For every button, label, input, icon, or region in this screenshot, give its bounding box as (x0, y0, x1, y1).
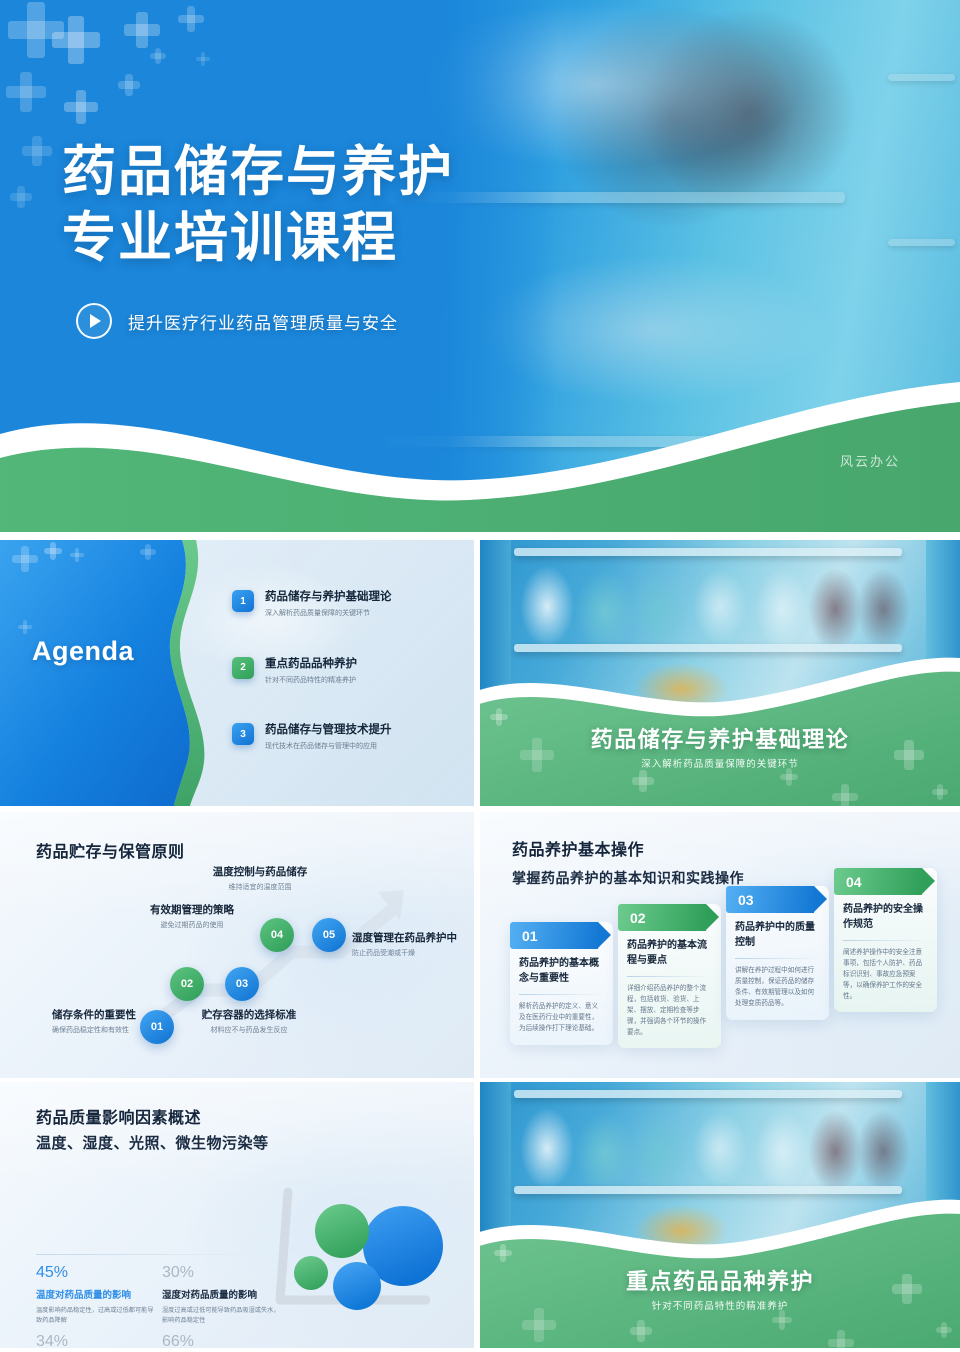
page-subtitle: 温度、湿度、光照、微生物污染等 (36, 1132, 269, 1153)
page-subtitle: 掌握药品养护的基本知识和实践操作 (512, 868, 744, 888)
fridge-shelf-mid (514, 644, 903, 652)
stat-desc: 湿度过高或过低可能导致药品吸湿或失水，影响药品稳定性 (162, 1306, 284, 1326)
step-desc: 防止药品受潮或干燥 (352, 948, 457, 958)
agenda-item-title: 重点药品品种养护 (265, 657, 357, 672)
card-body: 04 药品养护的安全操作规范 阐述养护操作中的安全注意事项，包括个人防护、药品标… (834, 868, 937, 1012)
agenda-item-desc: 现代技术在药品储存与管理中的应用 (265, 742, 392, 752)
slide-maintenance-operations[interactable]: 药品养护基本操作 掌握药品养护的基本知识和实践操作 01 药品养护的基本概念与重… (480, 812, 960, 1078)
section-title: 药品储存与养护基础理论 (480, 722, 960, 754)
slide-section-basics[interactable]: 药品储存与养护基础理论 深入解析药品质量保障的关键环节 (480, 540, 960, 806)
operation-card-1[interactable]: 01 药品养护的基本概念与重要性 解析药品养护的定义、意义及在医药行业中的重要性… (510, 922, 613, 1045)
step-title: 湿度管理在药品养护中 (352, 930, 457, 945)
agenda-item-3[interactable]: 3 药品储存与管理技术提升 现代技术在药品储存与管理中的应用 (232, 723, 457, 752)
page-title: 药品质量影响因素概述 (36, 1104, 201, 1128)
title-line-1: 药品储存与养护 (62, 142, 454, 202)
step-title: 贮存容器的选择标准 (184, 1007, 314, 1022)
card-ribbon-03: 03 (726, 886, 814, 913)
operation-card-2[interactable]: 02 药品养护的基本流程与要点 详细介绍药品养护的整个流程，包括收货、验货、上架… (618, 904, 721, 1048)
step-title: 温度控制与药品储存 (170, 864, 350, 879)
stat-card-4[interactable]: 66% 微生物污染对药品质量的影响 微生物污染可能导致药品变质，严重影响患者健康 (162, 1333, 298, 1348)
card-desc: 讲解在养护过程中如何进行质量控制，保证药品的储存条件、有效期管理以及如何处理变质… (735, 966, 820, 1010)
page-title: 药品贮存与保管原则 (36, 838, 185, 862)
card-body: 01 药品养护的基本概念与重要性 解析药品养护的定义、意义及在医药行业中的重要性… (510, 922, 613, 1045)
agenda-item-1[interactable]: 1 药品储存与养护基础理论 深入解析药品质量保障的关键环节 (232, 590, 457, 619)
title-subtitle-row: 提升医疗行业药品管理质量与安全 (76, 303, 398, 339)
stat-card-3[interactable]: 34% 光照对药品质量的影响 光照可能使药品发生光降解，降低药品的有效性 (36, 1333, 158, 1348)
step-label-03: 贮存容器的选择标准 材料应不与药品发生反应 (184, 1007, 314, 1035)
page-title: 药品储存与养护 专业培训课程 (62, 140, 454, 272)
card-body: 03 药品养护中的质量控制 讲解在养护过程中如何进行质量控制，保证药品的储存条件… (726, 886, 829, 1020)
card-ribbon-04: 04 (834, 868, 922, 895)
fridge-shelf-top (514, 548, 903, 556)
agenda-badge-3: 3 (232, 723, 254, 745)
card-divider (627, 976, 712, 977)
step-desc: 维持适宜的温度范围 (170, 882, 350, 892)
agenda-badge-2: 2 (232, 657, 254, 679)
step-label-01: 储存条件的重要性 确保药品稳定性和有效性 (52, 1007, 136, 1035)
door-rack-2 (888, 239, 955, 246)
stat-percent: 30% (162, 1264, 284, 1282)
card-desc: 阐述养护操作中的安全注意事项，包括个人防护、药品标识识别、事故应急预案等，以确保… (843, 948, 928, 1002)
step-node-01[interactable]: 01 (140, 1010, 174, 1044)
operation-card-3[interactable]: 03 药品养护中的质量控制 讲解在养护过程中如何进行质量控制，保证药品的储存条件… (726, 886, 829, 1020)
card-desc: 解析药品养护的定义、意义及在医药行业中的重要性，为后续操作打下理论基础。 (519, 1002, 604, 1035)
title-subtitle: 提升医疗行业药品管理质量与安全 (128, 309, 398, 334)
section-subtitle: 针对不同药品特性的精准养护 (480, 1298, 960, 1312)
stat-title: 湿度对药品质量的影响 (162, 1287, 284, 1301)
agenda-item-2[interactable]: 2 重点药品品种养护 针对不同药品特性的精准养护 (232, 657, 457, 686)
agenda-item-title: 药品储存与管理技术提升 (265, 723, 392, 738)
page-title: 药品养护基本操作 (512, 836, 644, 860)
step-label-05: 湿度管理在药品养护中 防止药品受潮或干燥 (352, 930, 457, 958)
slide-title[interactable]: 药品储存与养护 专业培训课程 提升医疗行业药品管理质量与安全 风云办公 (0, 0, 960, 532)
agenda-badge-1: 1 (232, 590, 254, 612)
step-title: 有效期管理的策略 (132, 902, 252, 917)
step-node-05[interactable]: 05 (312, 918, 346, 952)
slide-section-key-drugs[interactable]: 重点药品品种养护 针对不同药品特性的精准养护 (480, 1082, 960, 1348)
card-body: 02 药品养护的基本流程与要点 详细介绍药品养护的整个流程，包括收货、验货、上架… (618, 904, 721, 1048)
agenda-heading: Agenda (32, 636, 134, 667)
stats-divider (36, 1254, 266, 1255)
step-label-04: 温度控制与药品储存 维持适宜的温度范围 (170, 864, 350, 892)
bubble-humidity (294, 1256, 328, 1290)
agenda-item-title: 药品储存与养护基础理论 (265, 590, 392, 605)
title-line-2: 专业培训课程 (62, 206, 454, 272)
card-title: 药品养护的基本流程与要点 (627, 939, 712, 968)
stat-card-1[interactable]: 45% 温度对药品质量的影响 温度影响药品稳定性，过高或过低都可能导致药品降解 (36, 1264, 158, 1325)
agenda-item-desc: 针对不同药品特性的精准养护 (265, 676, 357, 686)
card-ribbon-02: 02 (618, 904, 706, 931)
slide-quality-factors[interactable]: 药品质量影响因素概述 温度、湿度、光照、微生物污染等 45% 温度对药品质量的影… (0, 1082, 474, 1348)
watermark: 风云办公 (840, 451, 900, 470)
stat-title: 温度对药品质量的影响 (36, 1287, 158, 1301)
fridge-shelf-top (514, 1090, 903, 1098)
step-title: 储存条件的重要性 (52, 1007, 136, 1022)
section-subtitle: 深入解析药品质量保障的关键环节 (480, 756, 960, 770)
stat-desc: 温度影响药品稳定性，过高或过低都可能导致药品降解 (36, 1306, 158, 1326)
step-desc: 避免过期药品的使用 (132, 920, 252, 930)
card-divider (519, 994, 604, 995)
presentation-deck: 药品储存与养护 专业培训课程 提升医疗行业药品管理质量与安全 风云办公 (0, 0, 960, 1352)
step-label-02: 有效期管理的策略 避免过期药品的使用 (132, 902, 252, 930)
card-ribbon-01: 01 (510, 922, 598, 949)
door-rack-1 (888, 74, 955, 81)
card-title: 药品养护的基本概念与重要性 (519, 957, 604, 986)
stat-percent: 66% (162, 1333, 298, 1348)
step-desc: 材料应不与药品发生反应 (184, 1025, 314, 1035)
stat-percent: 45% (36, 1264, 158, 1282)
card-title: 药品养护中的质量控制 (735, 921, 820, 950)
agenda-list: 1 药品储存与养护基础理论 深入解析药品质量保障的关键环节 2 重点药品品种养护… (232, 590, 457, 790)
card-desc: 详细介绍药品养护的整个流程，包括收货、验货、上架、摆放、定期检查等步骤，并强调各… (627, 984, 712, 1038)
card-divider (843, 940, 928, 941)
step-node-03[interactable]: 03 (225, 967, 259, 1001)
slide-storage-principles[interactable]: 药品贮存与保管原则 01 02 03 04 05 储存条件的重要性 确保药品稳定… (0, 812, 474, 1078)
step-node-02[interactable]: 02 (170, 967, 204, 1001)
card-divider (735, 958, 820, 959)
slide-agenda[interactable]: Agenda 1 药品储存与养护基础理论 深入解析药品质量保障的关键环节 2 重… (0, 540, 474, 806)
bubble-temperature (315, 1204, 369, 1258)
wave-decoration (0, 372, 960, 532)
operation-card-4[interactable]: 04 药品养护的安全操作规范 阐述养护操作中的安全注意事项，包括个人防护、药品标… (834, 868, 937, 1012)
agenda-item-desc: 深入解析药品质量保障的关键环节 (265, 609, 392, 619)
fridge-shelf-mid (514, 1186, 903, 1194)
play-icon[interactable] (76, 303, 112, 339)
step-node-04[interactable]: 04 (260, 918, 294, 952)
bubble-light (333, 1262, 381, 1310)
bubble-chart (270, 1180, 470, 1330)
step-desc: 确保药品稳定性和有效性 (52, 1025, 136, 1035)
stat-card-2[interactable]: 30% 湿度对药品质量的影响 湿度过高或过低可能导致药品吸湿或失水，影响药品稳定… (162, 1264, 284, 1325)
stat-percent: 34% (36, 1333, 158, 1348)
section-title: 重点药品品种养护 (480, 1264, 960, 1296)
card-title: 药品养护的安全操作规范 (843, 903, 928, 932)
